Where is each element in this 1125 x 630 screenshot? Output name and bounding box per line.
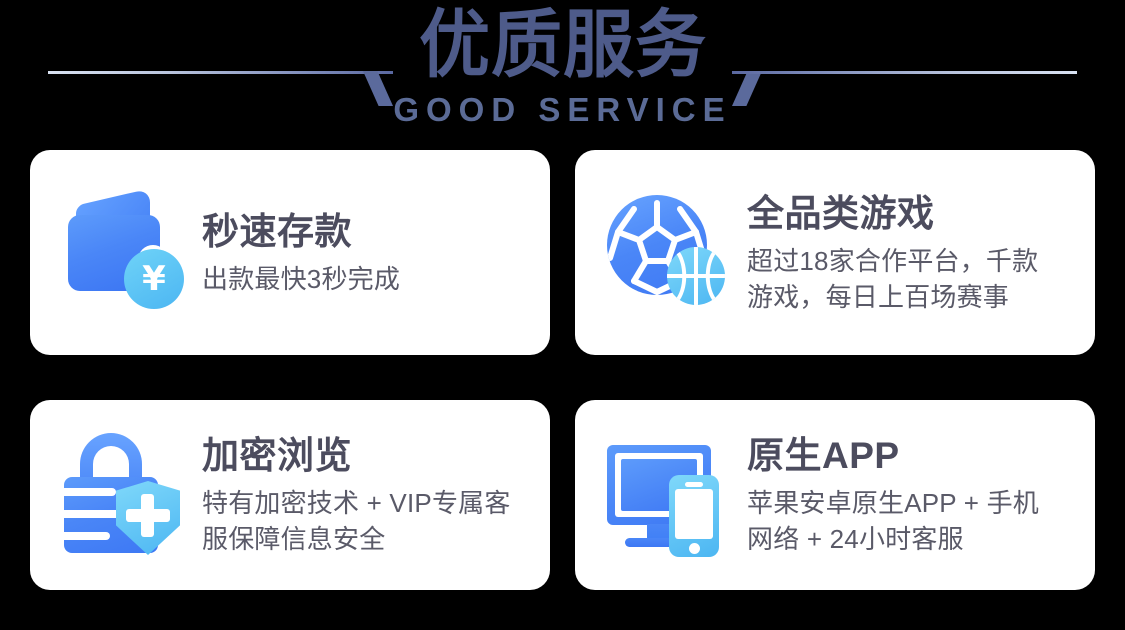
card-description-line: 游戏，每日上百场赛事	[747, 279, 1083, 315]
wallet-icon: ¥	[60, 189, 188, 317]
card-description: 出款最快3秒完成	[202, 261, 538, 297]
card-description-line: 特有加密技术 + VIP专属客	[202, 485, 538, 521]
card-title: 加密浏览	[202, 433, 538, 479]
card-description: 苹果安卓原生APP + 手机 网络 + 24小时客服	[747, 485, 1083, 557]
soccer-ball-icon	[605, 189, 733, 317]
card-description: 超过18家合作平台，千款 游戏，每日上百场赛事	[747, 243, 1083, 315]
basketball-icon	[667, 247, 725, 305]
page-title: 优质服务	[419, 0, 707, 90]
page-subtitle: GOOD SERVICE	[393, 89, 731, 131]
padlock-slot	[64, 532, 110, 540]
feature-card-encryption[interactable]: 加密浏览 特有加密技术 + VIP专属客 服保障信息安全	[30, 400, 550, 590]
feature-card-native-app[interactable]: 原生APP 苹果安卓原生APP + 手机 网络 + 24小时客服	[575, 400, 1095, 590]
feature-card-games[interactable]: 全品类游戏 超过18家合作平台，千款 游戏，每日上百场赛事	[575, 150, 1095, 355]
header: 优质服务 GOOD SERVICE	[0, 0, 1125, 143]
padlock-icon	[60, 431, 188, 559]
shield-plus-bar-vertical	[141, 494, 154, 537]
card-description-line: 网络 + 24小时客服	[747, 521, 1083, 557]
basketball-lines-svg	[667, 247, 725, 305]
feature-card-deposit[interactable]: ¥ 秒速存款 出款最快3秒完成	[30, 150, 550, 355]
card-description-line: 超过18家合作平台，千款	[747, 243, 1083, 279]
monitor-icon	[605, 431, 733, 559]
card-text-games: 全品类游戏 超过18家合作平台，千款 游戏，每日上百场赛事	[747, 191, 1095, 315]
card-title: 全品类游戏	[747, 191, 1083, 237]
smartphone-home-button	[689, 543, 700, 554]
padlock-slot	[64, 488, 116, 496]
card-title: 原生APP	[747, 433, 1083, 479]
card-text-native-app: 原生APP 苹果安卓原生APP + 手机 网络 + 24小时客服	[747, 433, 1095, 557]
yen-coin-icon: ¥	[124, 249, 184, 309]
smartphone-speaker	[685, 482, 703, 487]
good-service-panel: 优质服务 GOOD SERVICE ¥ 秒速存款 出款最快3秒完成	[0, 0, 1125, 630]
card-description-line: 服保障信息安全	[202, 521, 538, 557]
card-text-deposit: 秒速存款 出款最快3秒完成	[202, 209, 550, 297]
yen-symbol: ¥	[142, 262, 166, 296]
card-title: 秒速存款	[202, 209, 538, 255]
card-description-line: 苹果安卓原生APP + 手机	[747, 485, 1083, 521]
header-titles: 优质服务 GOOD SERVICE	[0, 0, 1125, 131]
smartphone-screen	[675, 489, 713, 539]
card-description: 特有加密技术 + VIP专属客 服保障信息安全	[202, 485, 538, 557]
feature-card-grid: ¥ 秒速存款 出款最快3秒完成	[30, 150, 1095, 590]
card-text-encryption: 加密浏览 特有加密技术 + VIP专属客 服保障信息安全	[202, 433, 550, 557]
card-description-line: 出款最快3秒完成	[202, 261, 538, 297]
